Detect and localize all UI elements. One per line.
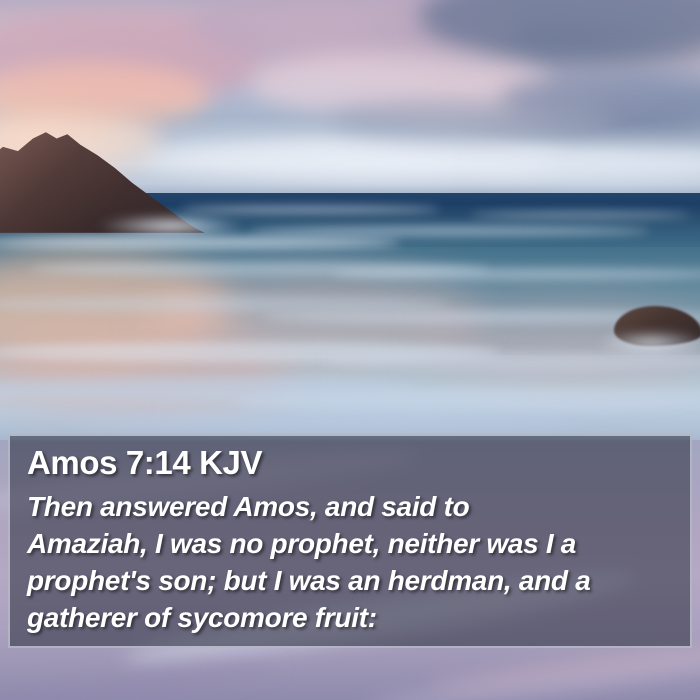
verse-image-scene: Amos 7:14 KJV Then answered Amos, and sa… — [0, 0, 700, 700]
verse-text-line-4: gatherer of sycomore fruit: — [27, 599, 682, 636]
verse-text-line-3: prophet's son; but I was an herdman, and… — [27, 562, 682, 599]
verse-overlay-card: Amos 7:14 KJV Then answered Amos, and sa… — [8, 434, 692, 648]
mid-ocean — [0, 247, 700, 367]
verse-reference: Amos 7:14 KJV — [27, 444, 262, 482]
verse-text-line-2: Amaziah, I was no prophet, neither was I… — [27, 525, 682, 562]
small-rock-spray — [596, 330, 700, 356]
verse-text-line-1: Then answered Amos, and said to — [27, 488, 682, 525]
headland-wave-foam — [96, 214, 246, 238]
verse-text: Then answered Amos, and said to Amaziah,… — [27, 488, 682, 636]
